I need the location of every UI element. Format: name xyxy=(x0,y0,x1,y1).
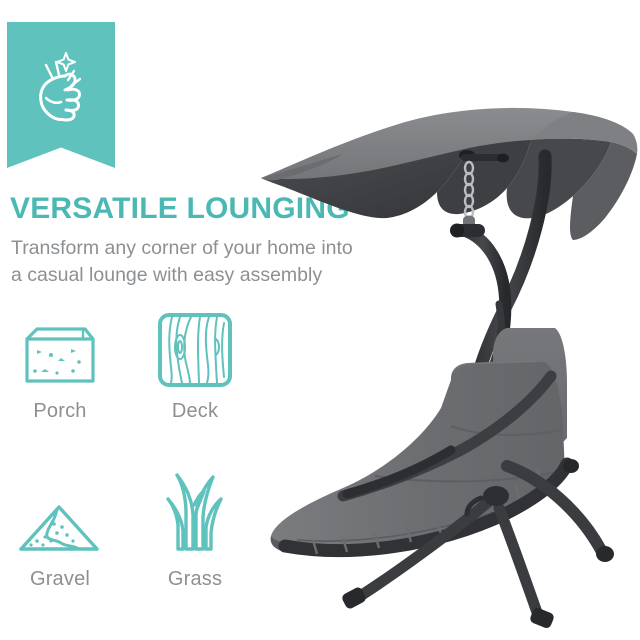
feature-label-gravel: Gravel xyxy=(0,568,125,591)
feature-label-grass: Grass xyxy=(130,568,260,591)
snapping-fingers-icon xyxy=(7,32,115,144)
feature-item-porch: Porch xyxy=(0,305,125,423)
seat-cushion xyxy=(271,328,567,554)
frame-hinge xyxy=(450,224,485,238)
feature-label-deck: Deck xyxy=(130,400,260,423)
concrete-patio-icon xyxy=(0,305,125,391)
feature-label-porch: Porch xyxy=(0,400,125,423)
feature-item-deck: Deck xyxy=(130,305,260,423)
grass-blades-icon xyxy=(130,465,260,559)
feature-item-grass: Grass xyxy=(130,465,260,591)
gravel-pile-icon xyxy=(0,473,125,559)
surface-types-list: Porch xyxy=(0,305,270,625)
feature-item-gravel: Gravel xyxy=(0,473,125,591)
marketing-panel: VERSATILE LOUNGING Transform any corner … xyxy=(0,0,640,640)
product-image-hanging-chaise-lounge xyxy=(255,78,640,638)
wood-grain-icon xyxy=(130,305,260,391)
canopy xyxy=(261,108,637,240)
